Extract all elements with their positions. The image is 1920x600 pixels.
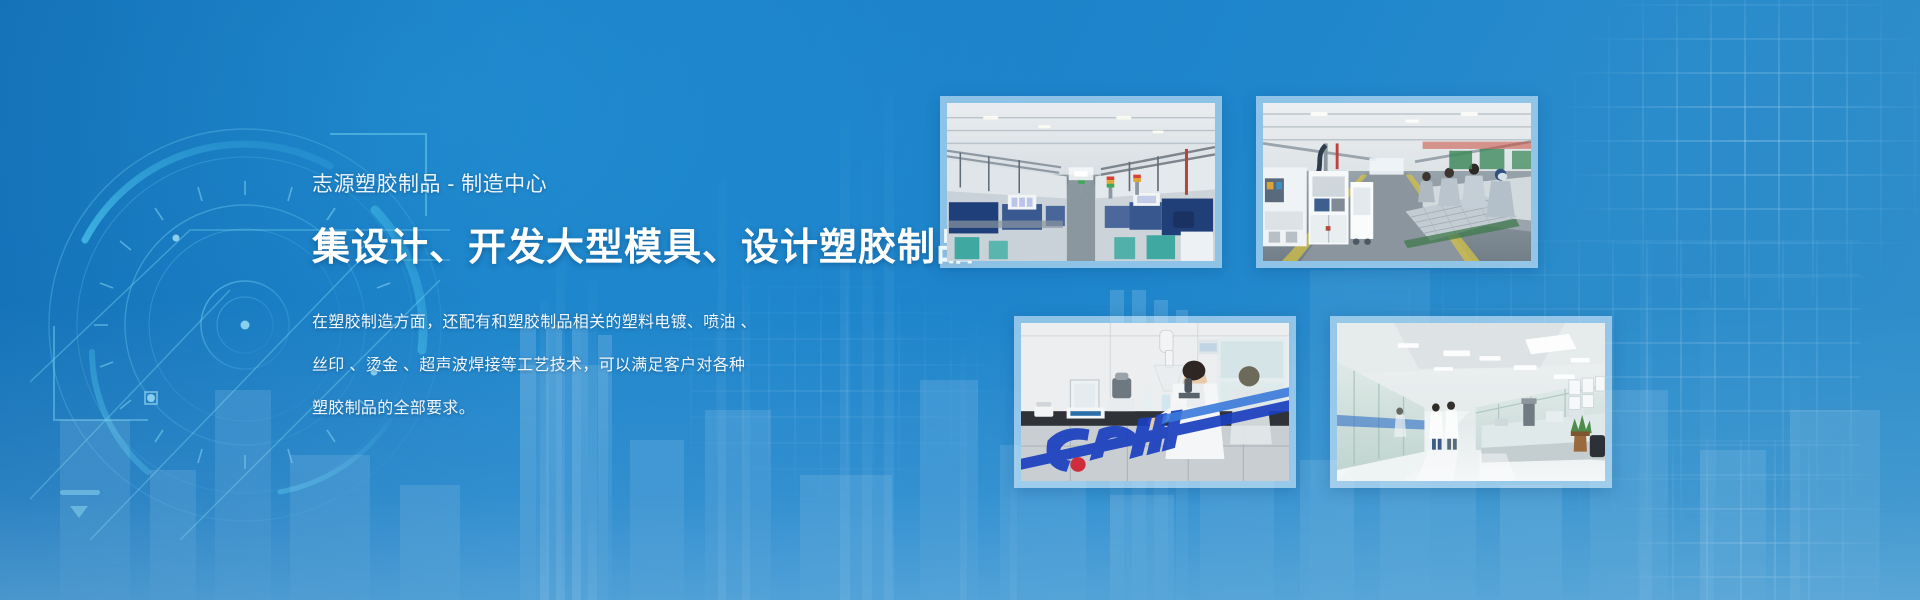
photo-injection-molding-workshop[interactable] <box>940 96 1222 268</box>
photo-laboratory-testing[interactable] <box>1014 316 1296 488</box>
photo-frame <box>1263 103 1531 261</box>
photo-frame <box>1337 323 1605 481</box>
photo-gallery <box>0 0 1920 600</box>
photo-frame <box>947 103 1215 261</box>
hero-banner: 志源塑胶制品 - 制造中心 集设计、开发大型模具、设计塑胶制品 在塑胶制造方面，… <box>0 0 1920 600</box>
photo-assembly-line[interactable] <box>1256 96 1538 268</box>
photo-cleanroom-corridor[interactable] <box>1330 316 1612 488</box>
photo-frame <box>1021 323 1289 481</box>
